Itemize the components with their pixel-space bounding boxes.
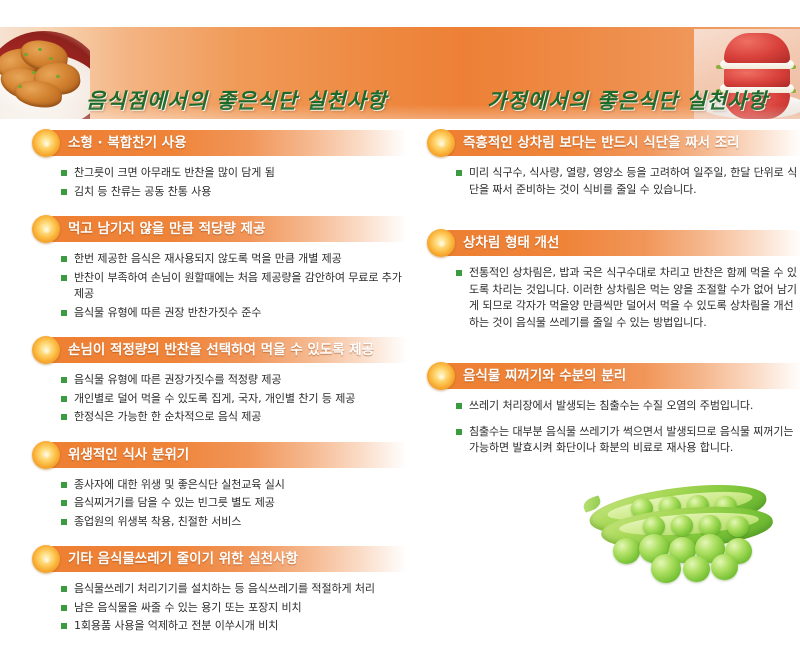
section-improve-table-setting: 상차림 형태 개선 전통적인 상차림은, 밥과 국은 식구수대로 차리고 반찬은…	[427, 230, 800, 331]
list-item: 1회용품 사용을 억제하고 전분 이쑤시개 비치	[61, 618, 407, 635]
photo-garnish	[56, 75, 60, 78]
section-title: 먹고 남기지 않을 만큼 적당량 제공	[68, 216, 265, 242]
section-header: 기타 음식물쓰레기 줄이기 위한 실천사항	[32, 546, 407, 572]
section-appropriate-portion: 먹고 남기지 않을 만큼 적당량 제공 한번 제공한 음식은 재사용되지 않도록…	[32, 216, 407, 321]
photo-garnish	[38, 48, 42, 51]
section-separate-food-waste-moisture: 음식물 찌꺼기와 수분의 분리 쓰레기 처리장에서 발생되는 침출수는 수질 오…	[427, 363, 800, 457]
list-item: 종사자에 대한 위생 및 좋은식단 실천교육 실시	[61, 477, 407, 494]
section-header: 위생적인 식사 분위기	[32, 442, 407, 468]
sun-badge-icon	[427, 362, 455, 390]
photo-garnish	[49, 57, 53, 60]
pea-pods-illustration	[585, 482, 795, 594]
list-item: 개인별로 덜어 먹을 수 있도록 집게, 국자, 개인별 찬기 등 제공	[61, 391, 407, 408]
list-item: 음식물 유형에 따른 권장가짓수를 적정량 제공	[61, 372, 407, 389]
left-header-title: 음식점에서의 좋은식단 실천사항	[86, 54, 387, 119]
section-header: 먹고 남기지 않을 만큼 적당량 제공	[32, 216, 407, 242]
section-title: 음식물 찌꺼기와 수분의 분리	[463, 363, 626, 389]
section-small-combined-dishes: 소형 · 복합찬기 사용 찬그릇이 크면 아무래도 반찬을 많이 담게 됨 김치…	[32, 130, 407, 200]
list-item: 미리 식구수, 식사량, 열량, 영양소 등을 고려하여 일주일, 한달 단위로…	[456, 165, 800, 198]
list-item: 음식찌거기를 담을 수 있는 빈그릇 별도 제공	[61, 495, 407, 512]
section-hygienic-atmosphere: 위생적인 식사 분위기 종사자에 대한 위생 및 좋은식단 실천교육 실시 음식…	[32, 442, 407, 531]
sun-badge-icon	[32, 441, 60, 469]
section-title: 위생적인 식사 분위기	[68, 442, 189, 468]
section-body: 미리 식구수, 식사량, 열량, 영양소 등을 고려하여 일주일, 한달 단위로…	[427, 165, 800, 198]
section-other-food-waste-reduction: 기타 음식물쓰레기 줄이기 위한 실천사항 음식물쓰레기 처리기기를 설치하는 …	[32, 546, 407, 635]
section-title: 소형 · 복합찬기 사용	[68, 130, 187, 156]
list-item: 김치 등 찬류는 공동 찬통 사용	[61, 184, 407, 201]
list-item: 음식물 유형에 따른 권장 반찬가짓수 준수	[61, 305, 407, 322]
list-item: 찬그릇이 크면 아무래도 반찬을 많이 담게 됨	[61, 165, 407, 182]
list-item: 침출수는 대부분 음식물 쓰레기가 썩으면서 발생되므로 음식물 찌꺼기는 가능…	[456, 424, 800, 457]
sun-badge-icon	[32, 215, 60, 243]
left-column: 소형 · 복합찬기 사용 찬그릇이 크면 아무래도 반찬을 많이 담게 됨 김치…	[32, 130, 407, 651]
list-item: 한번 제공한 음식은 재사용되지 않도록 먹을 만큼 개별 제공	[61, 251, 407, 268]
list-item: 쓰레기 처리장에서 발생되는 침출수는 수질 오염의 주범입니다.	[456, 398, 800, 415]
section-body: 전통적인 상차림은, 밥과 국은 식구수대로 차리고 반찬은 함께 먹을 수 있…	[427, 265, 800, 331]
photo-garnish	[18, 85, 22, 88]
sun-badge-icon	[32, 336, 60, 364]
section-body: 음식물 유형에 따른 권장가짓수를 적정량 제공 개인별로 덜어 먹을 수 있도…	[32, 372, 407, 426]
section-header: 손님이 적정량의 반찬을 선택하여 먹을 수 있도록 제공	[32, 337, 407, 363]
list-item: 음식물쓰레기 처리기기를 설치하는 등 음식쓰레기를 적절하게 처리	[61, 581, 407, 598]
sun-badge-icon	[32, 129, 60, 157]
sun-badge-icon	[427, 229, 455, 257]
section-body: 쓰레기 처리장에서 발생되는 침출수는 수질 오염의 주범입니다. 침출수는 대…	[427, 398, 800, 457]
fried-chicken-plate-photo	[0, 27, 90, 119]
sun-badge-icon	[427, 129, 455, 157]
list-item: 남은 음식물을 싸줄 수 있는 용기 또는 포장지 비치	[61, 600, 407, 617]
list-item: 반찬이 부족하여 손님이 원할때에는 처음 제공량을 감안하여 무료로 추가 제…	[61, 270, 407, 303]
pea	[727, 516, 749, 537]
section-body: 한번 제공한 음식은 재사용되지 않도록 먹을 만큼 개별 제공 반찬이 부족하…	[32, 251, 407, 321]
pea	[683, 556, 710, 582]
list-item: 전통적인 상차림은, 밥과 국은 식구수대로 차리고 반찬은 함께 먹을 수 있…	[456, 265, 800, 331]
section-header: 즉흥적인 상차림 보다는 반드시 식단을 짜서 조리	[427, 130, 800, 156]
list-item: 한정식은 가능한 한 순차적으로 음식 제공	[61, 409, 407, 426]
photo-garnish	[24, 53, 28, 56]
list-item: 종업원의 위생복 착용, 친절한 서비스	[61, 514, 407, 531]
section-header: 음식물 찌꺼기와 수분의 분리	[427, 363, 800, 389]
section-body: 음식물쓰레기 처리기기를 설치하는 등 음식쓰레기를 적절하게 처리 남은 음식…	[32, 581, 407, 635]
section-body: 찬그릇이 크면 아무래도 반찬을 많이 담게 됨 김치 등 찬류는 공동 찬통 …	[32, 165, 407, 200]
section-title: 즉흥적인 상차림 보다는 반드시 식단을 짜서 조리	[463, 130, 740, 156]
right-header-title: 가정에서의 좋은식단 실천사항	[487, 54, 768, 119]
pea	[711, 554, 738, 580]
section-guest-selects-portion: 손님이 적정량의 반찬을 선택하여 먹을 수 있도록 제공 음식물 유형에 따른…	[32, 337, 407, 426]
section-plan-menu-before-cooking: 즉흥적인 상차림 보다는 반드시 식단을 짜서 조리 미리 식구수, 식사량, …	[427, 130, 800, 198]
section-title: 손님이 적정량의 반찬을 선택하여 먹을 수 있도록 제공	[68, 337, 374, 363]
section-header: 상차림 형태 개선	[427, 230, 800, 256]
pea	[699, 515, 721, 536]
section-body: 종사자에 대한 위생 및 좋은식단 실천교육 실시 음식찌거기를 담을 수 있는…	[32, 477, 407, 531]
header-band: 음식점에서의 좋은식단 실천사항 가정에서의 좋은식단 실천사항	[0, 27, 800, 119]
section-header: 소형 · 복합찬기 사용	[32, 130, 407, 156]
pea	[671, 515, 693, 536]
right-column: 즉흥적인 상차림 보다는 반드시 식단을 짜서 조리 미리 식구수, 식사량, …	[427, 130, 800, 489]
pea	[651, 554, 681, 583]
section-title: 기타 음식물쓰레기 줄이기 위한 실천사항	[68, 546, 298, 572]
pea	[613, 538, 640, 564]
photo-garnish	[32, 71, 36, 74]
section-title: 상차림 형태 개선	[463, 230, 559, 256]
sun-badge-icon	[32, 545, 60, 573]
